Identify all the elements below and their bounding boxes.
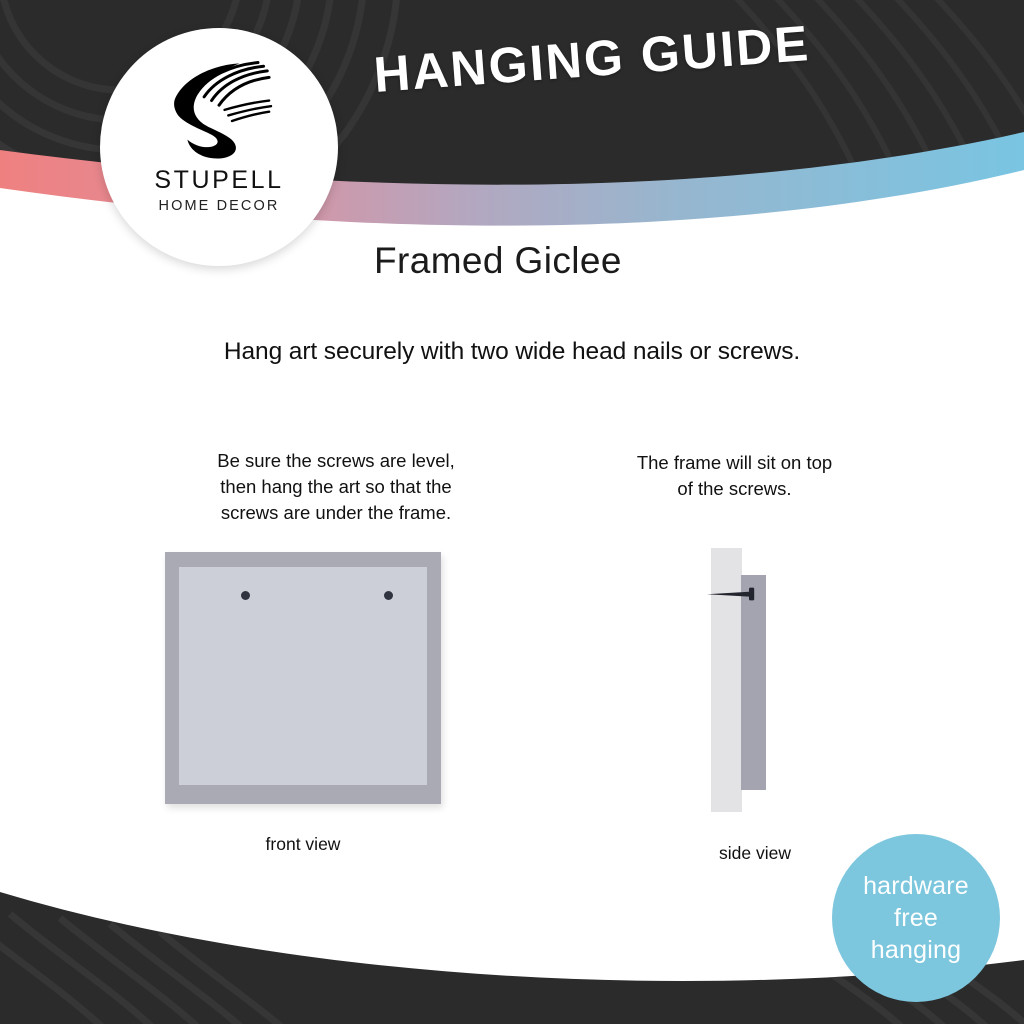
side-caption-line-2: of the screws. <box>578 476 891 502</box>
logo-wordmark: STUPELL <box>154 168 283 193</box>
logo-tagline: HOME DECOR <box>159 199 280 214</box>
front-caption-line-2: then hang the art so that the <box>140 474 532 500</box>
badge-line-1: hardware <box>863 870 969 902</box>
stupell-logo-badge: STUPELL HOME DECOR <box>100 28 338 266</box>
main-instruction: Hang art securely with two wide head nai… <box>0 338 1024 366</box>
side-view-frame-diagram <box>690 540 820 825</box>
frame-strip <box>741 575 766 790</box>
hanging-guide-page: STUPELL HOME DECOR HANGING GUIDE Framed … <box>0 0 1024 1024</box>
front-view-label: front view <box>165 834 441 855</box>
stupell-swoosh-s-icon <box>154 52 284 164</box>
side-caption-line-1: The frame will sit on top <box>578 450 891 476</box>
side-view-caption: The frame will sit on top of the screws. <box>578 450 891 502</box>
badge-line-3: hanging <box>871 934 961 966</box>
front-view-frame-diagram <box>165 552 441 804</box>
screw-hole-left-icon <box>241 591 250 600</box>
side-view-label: side view <box>660 843 850 864</box>
screw-side-icon <box>705 586 767 602</box>
badge-line-2: free <box>894 902 938 934</box>
hardware-free-hanging-badge: hardware free hanging <box>832 834 1000 1002</box>
front-view-caption: Be sure the screws are level, then hang … <box>140 448 532 526</box>
product-type-title: Framed Giclee <box>374 240 622 282</box>
front-caption-line-1: Be sure the screws are level, <box>140 448 532 474</box>
screw-hole-right-icon <box>384 591 393 600</box>
frame-mat-area <box>179 567 427 785</box>
front-caption-line-3: screws are under the frame. <box>140 500 532 526</box>
